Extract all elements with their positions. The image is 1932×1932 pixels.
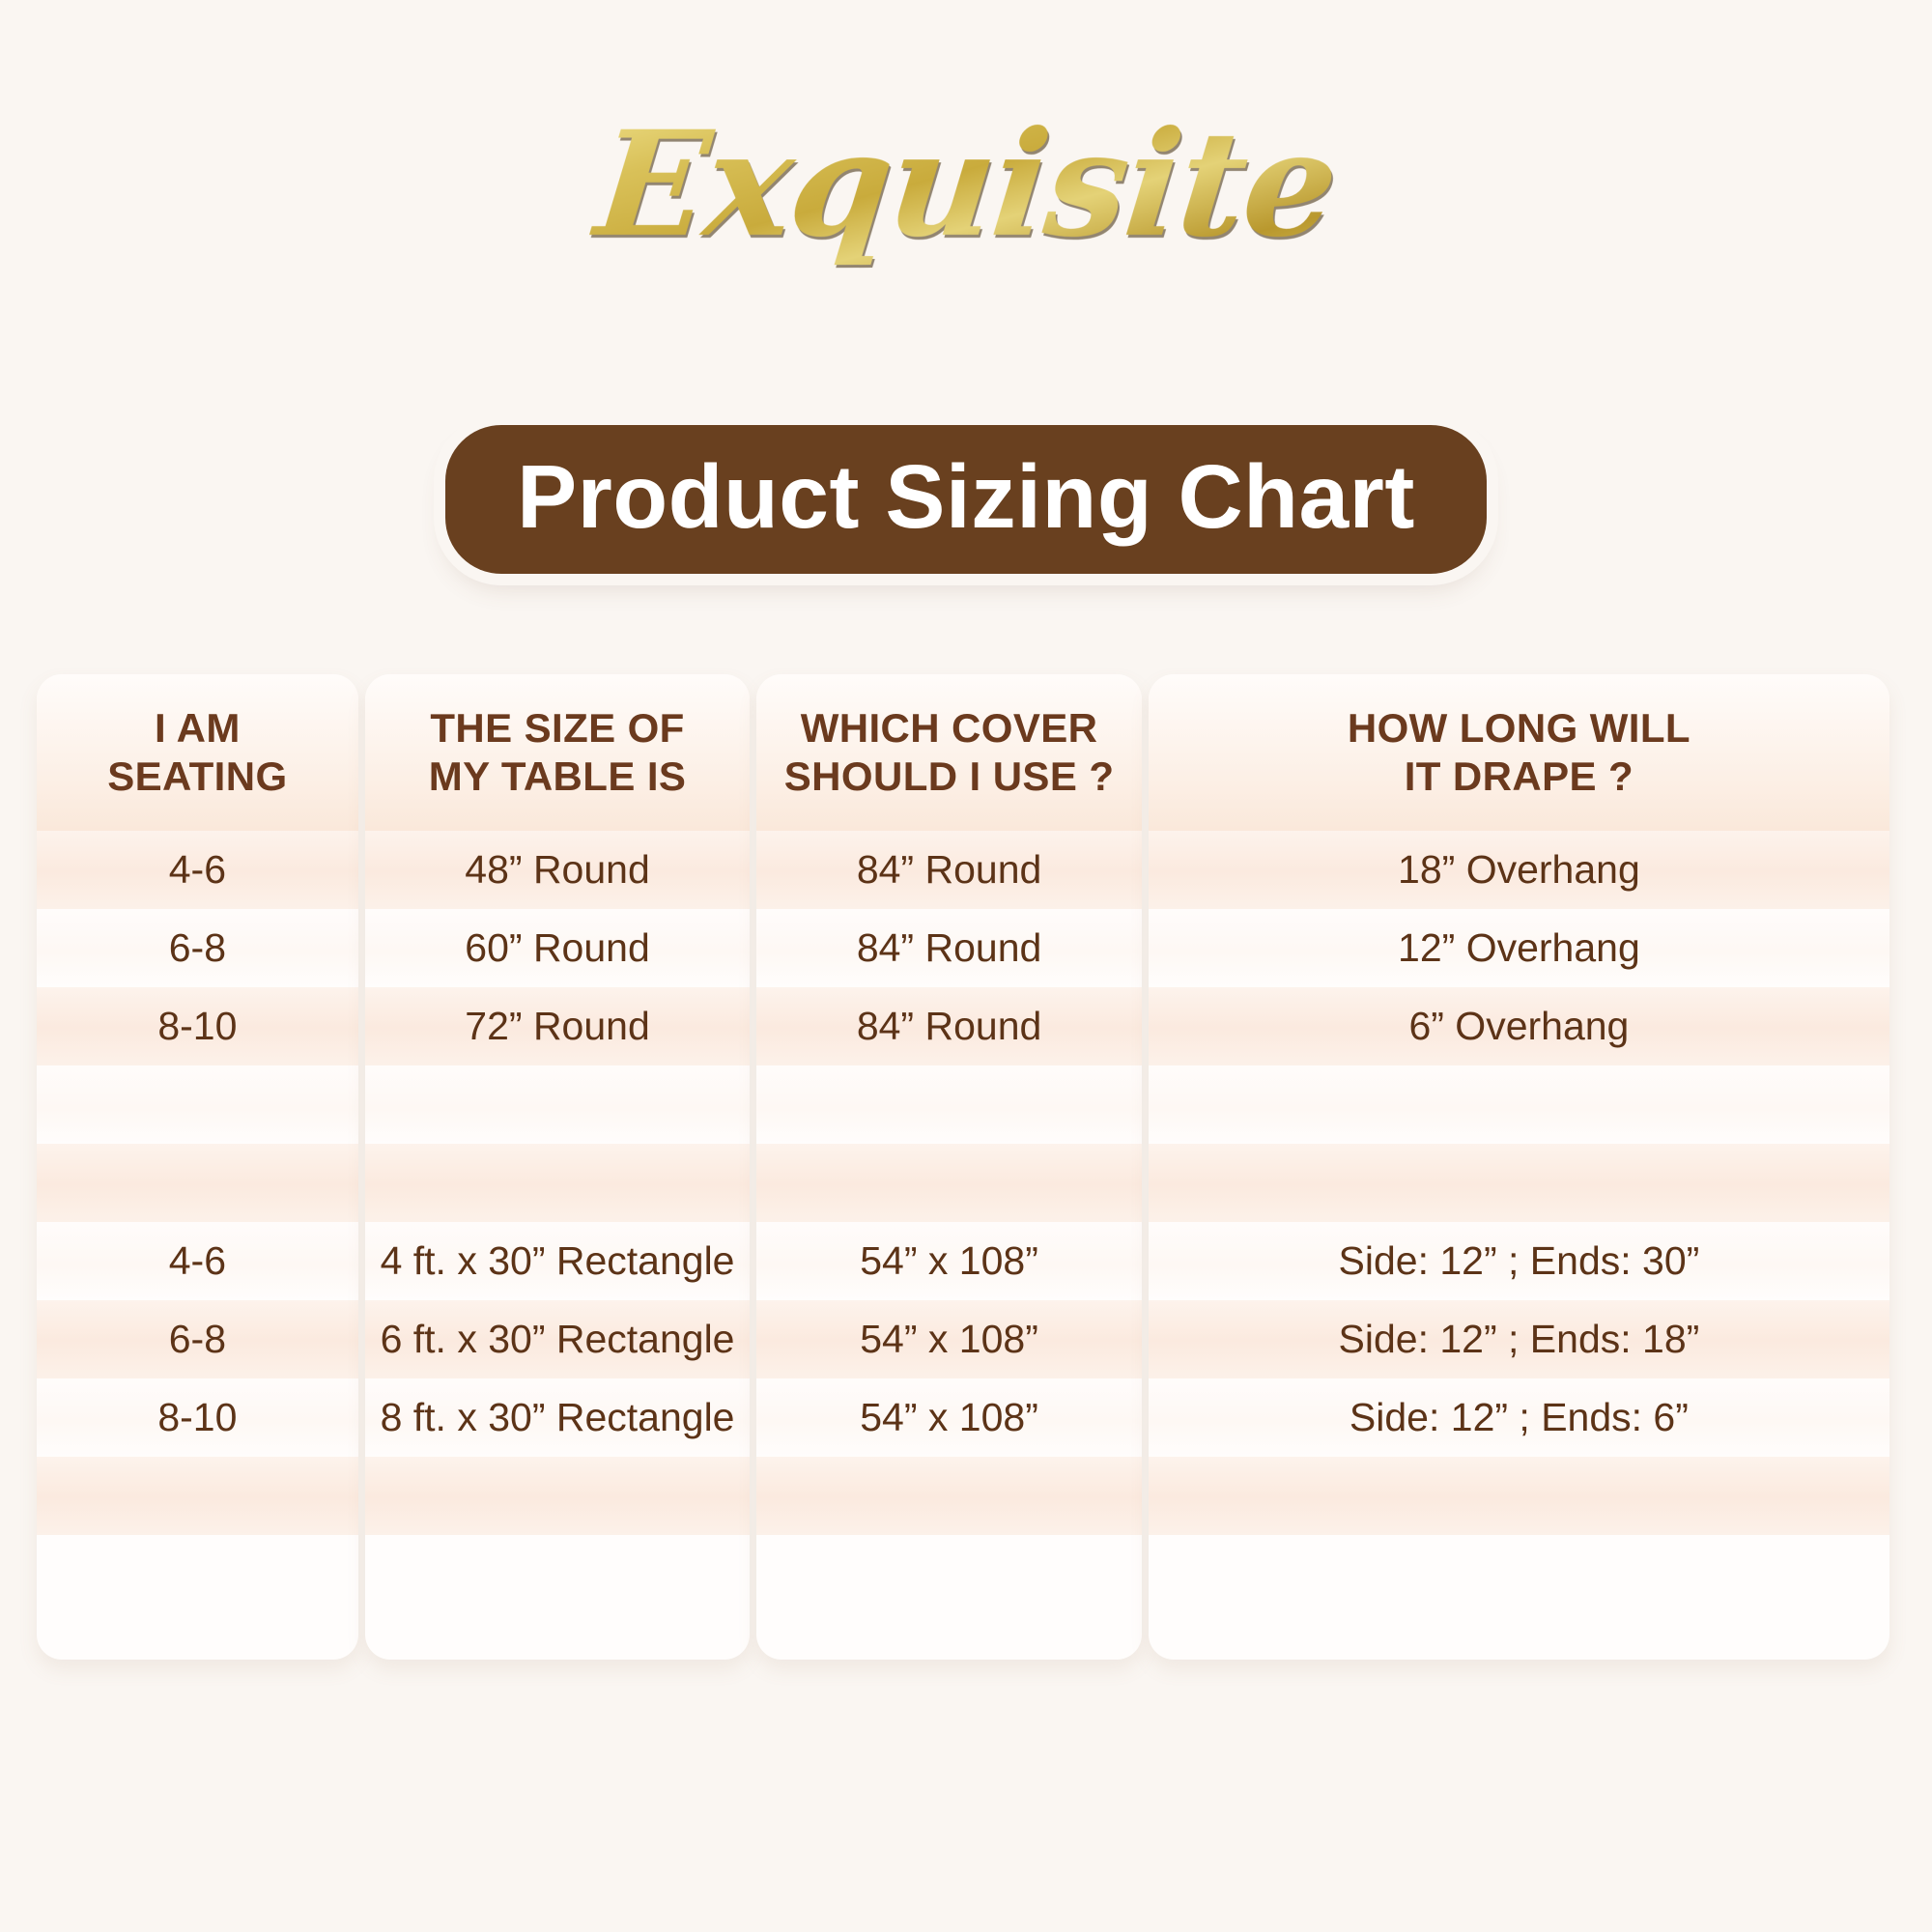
table-cell-value: 6” Overhang — [1408, 1007, 1629, 1046]
table-cell: 60” Round — [365, 909, 751, 987]
table-cell-value: 72” Round — [465, 1007, 649, 1046]
table-cell: 48” Round — [365, 831, 751, 909]
table-cell-value: 12” Overhang — [1398, 928, 1640, 968]
brand-logo: Exquisite — [0, 83, 1932, 286]
table-cell-value: 8-10 — [157, 1398, 237, 1437]
column-header-seating: I AMSEATING — [37, 674, 358, 831]
table-cell-value: 6-8 — [169, 928, 226, 968]
table-cell: Side: 12” ; Ends: 18” — [1149, 1300, 1889, 1378]
table-cell: 84” Round — [756, 831, 1142, 909]
table-cell-value: 6 ft. x 30” Rectangle — [381, 1320, 735, 1359]
column-header-table-size: THE SIZE OFMY TABLE IS — [365, 674, 751, 831]
table-cell: 54” x 108” — [756, 1300, 1142, 1378]
table-cell-value: 18” Overhang — [1398, 850, 1640, 890]
column-header-label: WHICH COVERSHOULD I USE ? — [784, 704, 1115, 800]
table-cell: 6” Overhang — [1149, 987, 1889, 1065]
brand-logo-text: Exquisite — [579, 99, 1352, 270]
page-title-banner: Product Sizing Chart — [0, 425, 1932, 574]
table-cell-value: 4-6 — [169, 850, 226, 890]
sizing-chart-table: I AMSEATING4-66-88-10 4-66-88-10 THE SIZ… — [37, 674, 1889, 1660]
page-title-pill: Product Sizing Chart — [445, 425, 1487, 574]
column-header-label: THE SIZE OFMY TABLE IS — [429, 704, 687, 800]
table-cell: 12” Overhang — [1149, 909, 1889, 987]
table-cell-value: 84” Round — [857, 850, 1041, 890]
table-cell-value: 8-10 — [157, 1007, 237, 1046]
column-card-seating: I AMSEATING4-66-88-10 4-66-88-10 — [37, 674, 358, 1660]
table-cell: 54” x 108” — [756, 1378, 1142, 1457]
table-cell-value: 54” x 108” — [860, 1241, 1038, 1281]
table-row-spacer — [1149, 1457, 1889, 1535]
column-header-drape-length: HOW LONG WILLIT DRAPE ? — [1149, 674, 1889, 831]
table-row-spacer — [37, 1065, 358, 1144]
table-cell-value: 6-8 — [169, 1320, 226, 1359]
table-cell: Side: 12” ; Ends: 6” — [1149, 1378, 1889, 1457]
table-row-spacer — [756, 1144, 1142, 1222]
table-cell-value: 4 ft. x 30” Rectangle — [381, 1241, 735, 1281]
table-row-spacer — [365, 1065, 751, 1144]
table-cell: 18” Overhang — [1149, 831, 1889, 909]
table-row-spacer — [37, 1457, 358, 1535]
table-cell: 8-10 — [37, 1378, 358, 1457]
table-cell-value: 54” x 108” — [860, 1320, 1038, 1359]
table-cell: 6-8 — [37, 909, 358, 987]
page-title: Product Sizing Chart — [517, 448, 1415, 545]
table-cell-value: 48” Round — [465, 850, 649, 890]
table-cell-value: 60” Round — [465, 928, 649, 968]
table-cell-value: 84” Round — [857, 928, 1041, 968]
table-row-spacer — [365, 1457, 751, 1535]
table-cell: 4-6 — [37, 831, 358, 909]
table-cell-value: 54” x 108” — [860, 1398, 1038, 1437]
table-cell: 8-10 — [37, 987, 358, 1065]
table-cell-value: 8 ft. x 30” Rectangle — [381, 1398, 735, 1437]
table-cell: 84” Round — [756, 909, 1142, 987]
column-card-drape-length: HOW LONG WILLIT DRAPE ?18” Overhang12” O… — [1149, 674, 1889, 1660]
table-cell: Side: 12” ; Ends: 30” — [1149, 1222, 1889, 1300]
table-cell-value: Side: 12” ; Ends: 18” — [1339, 1320, 1700, 1359]
table-cell-value: 4-6 — [169, 1241, 226, 1281]
table-cell-value: 84” Round — [857, 1007, 1041, 1046]
table-row-spacer — [1149, 1065, 1889, 1144]
column-card-cover-size: WHICH COVERSHOULD I USE ?84” Round84” Ro… — [756, 674, 1142, 1660]
table-row-spacer — [756, 1457, 1142, 1535]
table-cell: 4 ft. x 30” Rectangle — [365, 1222, 751, 1300]
table-row-spacer — [365, 1144, 751, 1222]
table-cell: 4-6 — [37, 1222, 358, 1300]
table-cell: 8 ft. x 30” Rectangle — [365, 1378, 751, 1457]
table-row-spacer — [37, 1144, 358, 1222]
table-row-spacer — [756, 1065, 1142, 1144]
table-row-spacer — [1149, 1144, 1889, 1222]
table-cell-value: Side: 12” ; Ends: 6” — [1350, 1398, 1689, 1437]
table-cell: 54” x 108” — [756, 1222, 1142, 1300]
table-cell: 6-8 — [37, 1300, 358, 1378]
column-header-label: I AMSEATING — [107, 704, 287, 800]
column-header-label: HOW LONG WILLIT DRAPE ? — [1348, 704, 1690, 800]
table-cell: 72” Round — [365, 987, 751, 1065]
column-header-cover-size: WHICH COVERSHOULD I USE ? — [756, 674, 1142, 831]
table-cell: 84” Round — [756, 987, 1142, 1065]
column-card-table-size: THE SIZE OFMY TABLE IS48” Round60” Round… — [365, 674, 751, 1660]
table-cell-value: Side: 12” ; Ends: 30” — [1339, 1241, 1700, 1281]
table-cell: 6 ft. x 30” Rectangle — [365, 1300, 751, 1378]
